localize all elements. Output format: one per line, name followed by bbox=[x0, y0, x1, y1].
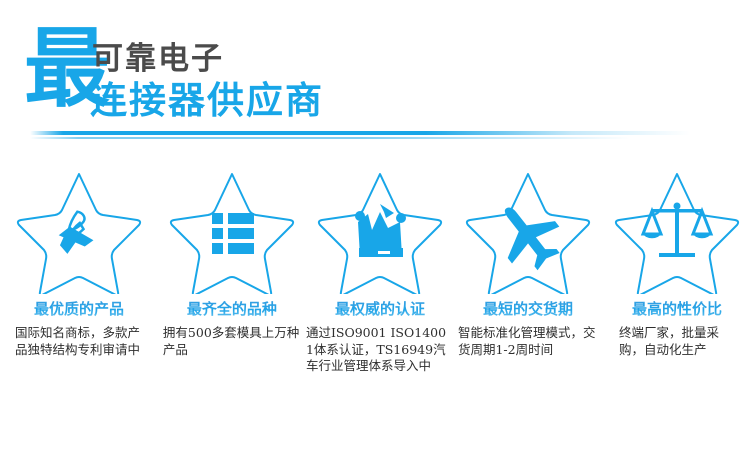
feature-description: 智能标准化管理模式，交货周期1-2周时间 bbox=[458, 325, 598, 358]
star-outline-3 bbox=[316, 168, 444, 294]
headline-divider-secondary bbox=[30, 137, 630, 139]
feature-item-variety: 最齐全的品种 拥有500多套模具上万种产品 bbox=[158, 168, 306, 358]
headline-line-2: 连接器供应商 bbox=[90, 82, 324, 119]
feature-description: 拥有500多套模具上万种产品 bbox=[163, 325, 303, 358]
feature-item-value: 最高的性价比 终端厂家，批量采购，自动化生产 bbox=[602, 168, 752, 358]
headline-block: 最 可靠电子 连接器供应商 bbox=[0, 0, 752, 152]
feature-title: 最短的交货期 bbox=[483, 300, 573, 318]
feature-item-quality: 最优质的产品 国际知名商标，多款产品独特结构专利审请中 bbox=[0, 168, 158, 358]
star-outline-1 bbox=[15, 168, 143, 294]
star-outline-4 bbox=[464, 168, 592, 294]
feature-item-delivery: 最短的交货期 智能标准化管理模式，交货周期1-2周时间 bbox=[454, 168, 602, 358]
medal-ribbon-icon bbox=[59, 212, 94, 254]
headline-line-1: 可靠电子 bbox=[92, 44, 224, 75]
airplane-icon bbox=[483, 190, 572, 281]
list-grid-icon bbox=[212, 213, 254, 254]
promo-banner: 最 可靠电子 连接器供应商 最优质的产品 国际知名商标，多款产品 bbox=[0, 0, 752, 454]
feature-description: 终端厂家，批量采购，自动化生产 bbox=[619, 325, 739, 358]
feature-description: 国际知名商标，多款产品独特结构专利审请中 bbox=[15, 325, 147, 358]
feature-description: 通过ISO9001 ISO14001体系认证，TS16949汽车行业管理体系导入… bbox=[306, 325, 454, 375]
feature-title: 最优质的产品 bbox=[34, 300, 124, 318]
balance-scale-icon bbox=[642, 203, 712, 258]
feature-row: 最优质的产品 国际知名商标，多款产品独特结构专利审请中 最 bbox=[0, 168, 752, 375]
star-outline-2 bbox=[168, 168, 296, 294]
feature-title: 最齐全的品种 bbox=[187, 300, 277, 318]
star-outline-5 bbox=[613, 168, 741, 294]
feature-item-certification: 最权威的认证 通过ISO9001 ISO14001体系认证，TS16949汽车行… bbox=[306, 168, 454, 375]
headline-divider bbox=[30, 131, 690, 135]
feature-title: 最权威的认证 bbox=[335, 300, 425, 318]
feature-title: 最高的性价比 bbox=[632, 300, 722, 318]
